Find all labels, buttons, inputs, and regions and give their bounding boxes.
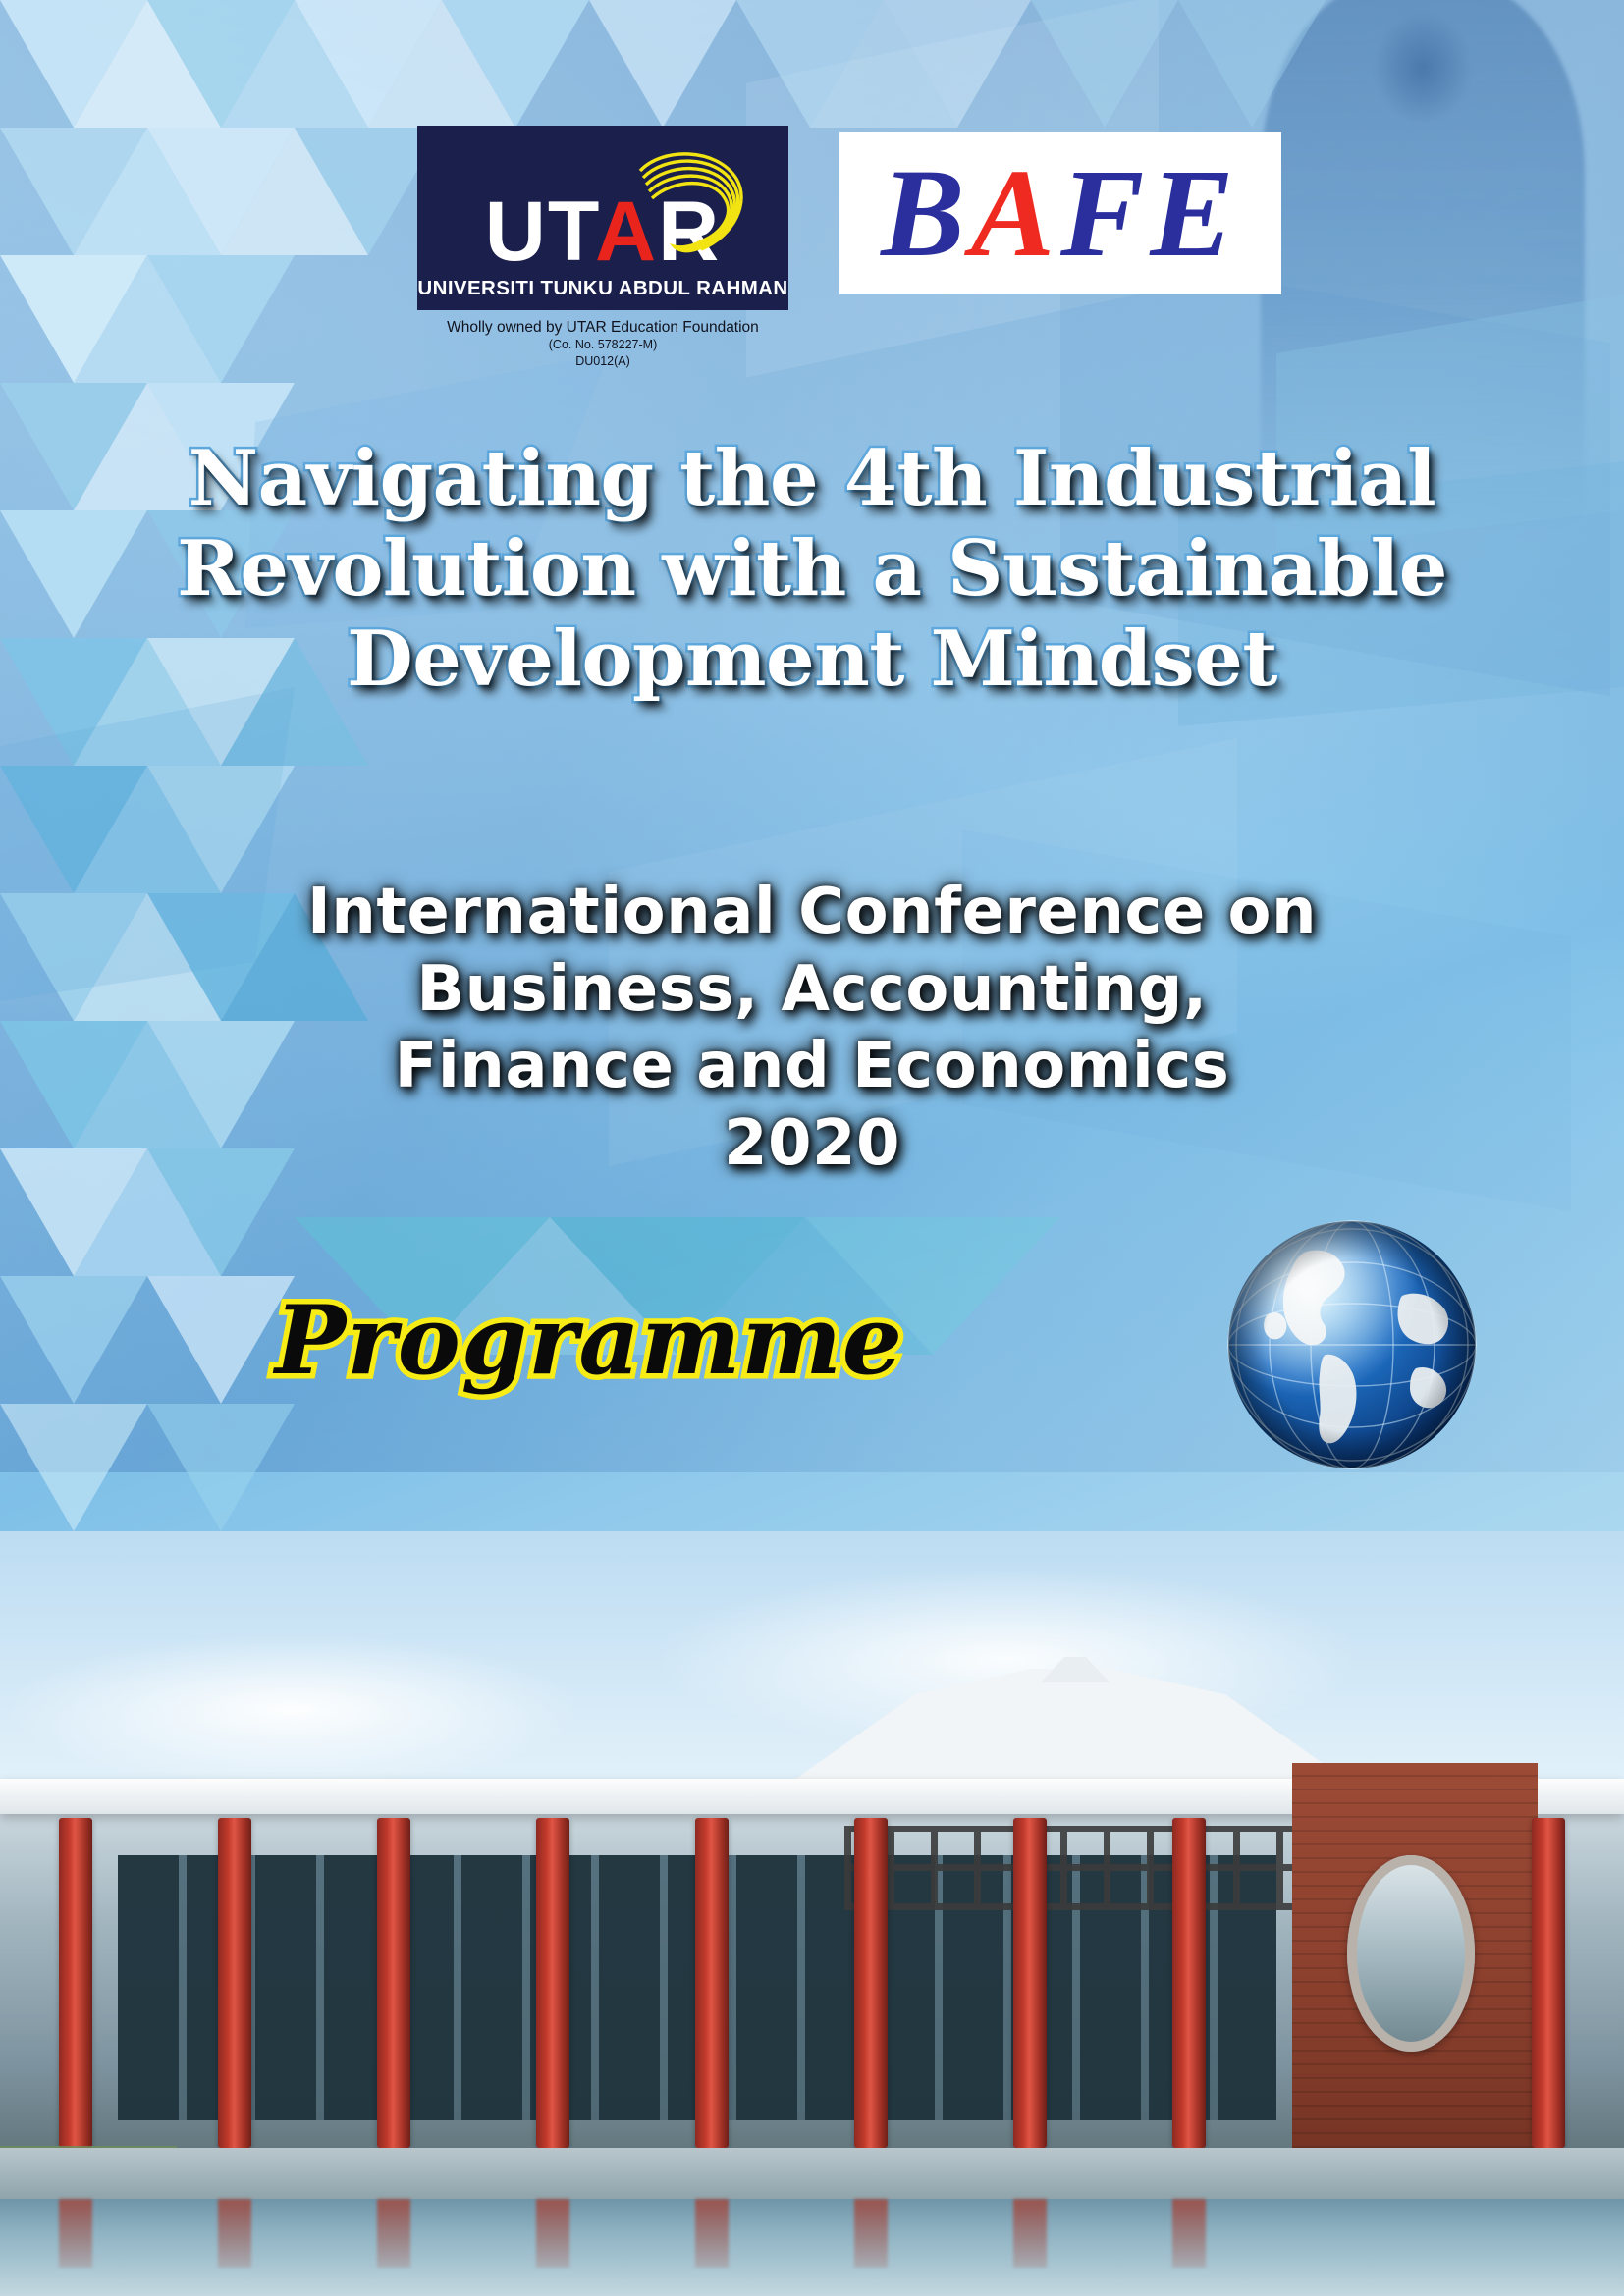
column-reflection <box>536 2199 569 2268</box>
conference-programme-cover: UTAR UNIVERSITI TUNKU ABDUL RAHMAN Wholl… <box>0 0 1624 2296</box>
bafe-logo: BAFE <box>839 132 1281 294</box>
bafe-letter-a: A <box>971 143 1060 283</box>
title-line-3: Development Mindset <box>0 614 1624 705</box>
building-column <box>59 1818 92 2148</box>
building-column <box>1172 1818 1206 2148</box>
building-circular-window <box>1347 1855 1475 2052</box>
utar-logo: UTAR UNIVERSITI TUNKU ABDUL RAHMAN <box>417 126 788 310</box>
ground-plaza <box>0 2148 1624 2199</box>
column-reflection <box>695 2199 729 2268</box>
logo-row: UTAR UNIVERSITI TUNKU ABDUL RAHMAN Wholl… <box>0 126 1624 332</box>
building-column <box>536 1818 569 2148</box>
conference-name: International Conference on Business, Ac… <box>0 874 1624 1183</box>
column-reflection <box>854 2199 888 2268</box>
utar-wordmark-a: A <box>595 185 658 279</box>
page-title: Navigating the 4th Industrial Revolution… <box>0 434 1624 705</box>
sky <box>0 1531 1624 1787</box>
utar-fineprint-line3: DU012(A) <box>417 353 788 369</box>
building-column <box>377 1818 410 2148</box>
campus-building-photo <box>0 1531 1624 2296</box>
programme-label: Programme <box>0 1294 1178 1388</box>
utar-wordmark: UTAR <box>485 192 721 273</box>
bafe-wordmark: BAFE <box>881 150 1240 276</box>
utar-wordmark-ut: UT <box>485 185 595 279</box>
utar-fineprint: Wholly owned by UTAR Education Foundatio… <box>417 318 788 369</box>
utar-fineprint-line1: Wholly owned by UTAR Education Foundatio… <box>417 318 788 337</box>
building-column <box>695 1818 729 2148</box>
conference-line-1: International Conference on <box>0 874 1624 951</box>
column-reflection <box>1172 2199 1206 2268</box>
building-column <box>1532 1818 1565 2148</box>
column-reflection <box>1013 2199 1047 2268</box>
column-reflection <box>377 2199 410 2268</box>
column-reflection <box>218 2199 251 2268</box>
column-reflection <box>59 2199 92 2268</box>
bafe-letter-b: B <box>881 143 970 283</box>
utar-subtitle: UNIVERSITI TUNKU ABDUL RAHMAN <box>417 277 787 300</box>
utar-wordmark-r: R <box>658 185 721 279</box>
title-line-2: Revolution with a Sustainable <box>0 524 1624 614</box>
building-column <box>218 1818 251 2148</box>
utar-fineprint-line2: (Co. No. 578227-M) <box>417 337 788 352</box>
building-column <box>854 1818 888 2148</box>
globe-icon <box>1210 1205 1494 1490</box>
bafe-letter-e: E <box>1150 143 1239 283</box>
building-column <box>1013 1818 1047 2148</box>
title-line-1: Navigating the 4th Industrial <box>0 434 1624 524</box>
bafe-letter-f: F <box>1060 143 1150 283</box>
conference-year: 2020 <box>0 1105 1624 1183</box>
conference-line-2: Business, Accounting, <box>0 951 1624 1029</box>
conference-line-3: Finance and Economics <box>0 1028 1624 1105</box>
